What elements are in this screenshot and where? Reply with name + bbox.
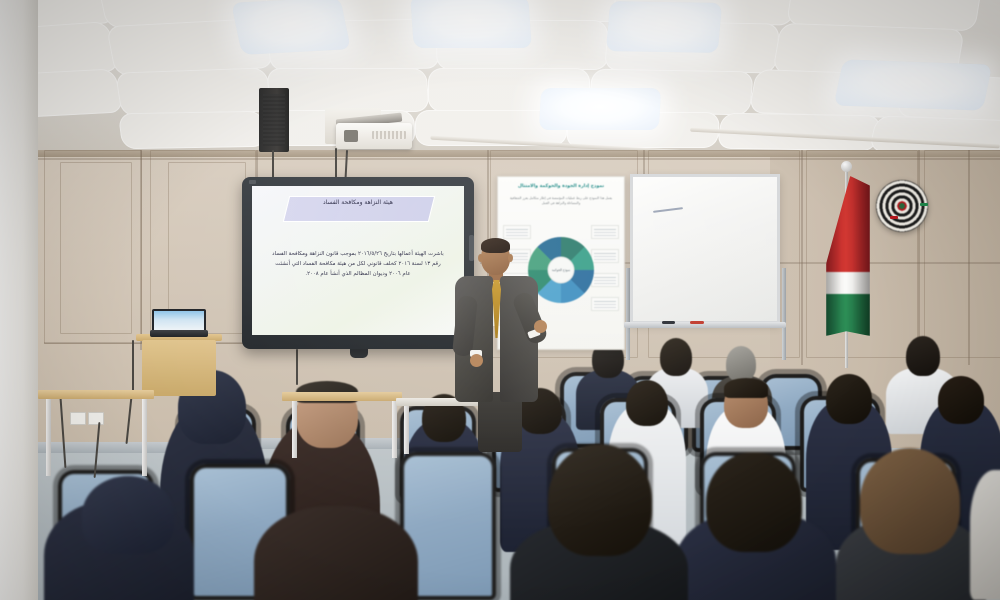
slide-body-text: باشرت الهيئة أعمالها بتاريخ ٢٠١٦/٥/٢٦ بم… bbox=[271, 249, 445, 280]
ceiling-light-panel bbox=[410, 0, 532, 48]
dartboard bbox=[876, 180, 928, 232]
projection-display[interactable]: هيئة النزاهة ومكافحة الفساد باشرت الهيئة… bbox=[242, 177, 474, 349]
audience-head bbox=[660, 338, 692, 376]
lecture-room-photo: هيئة النزاهة ومكافحة الفساد باشرت الهيئة… bbox=[0, 0, 1000, 600]
ceiling-light-panel bbox=[834, 59, 993, 110]
presenter-hand-left bbox=[470, 354, 483, 367]
marker-black-icon[interactable] bbox=[662, 321, 675, 324]
poster-subtitle: يعمل هذا النموذج على ربط عمليات المؤسسة … bbox=[508, 196, 614, 207]
whiteboard[interactable] bbox=[630, 174, 780, 324]
wall-socket bbox=[70, 412, 86, 425]
laptop-shelf-panel bbox=[142, 340, 216, 396]
audience-head bbox=[860, 448, 960, 554]
laptop-keyboard[interactable] bbox=[150, 330, 208, 337]
laptop-screen bbox=[154, 311, 204, 330]
wall-socket bbox=[88, 412, 104, 425]
ceiling-light-panel bbox=[606, 1, 722, 53]
audience-body bbox=[254, 506, 418, 600]
side-table bbox=[38, 390, 154, 399]
projector-vent bbox=[372, 131, 406, 139]
wall-panel bbox=[60, 162, 132, 334]
audience-head bbox=[626, 380, 668, 426]
presenter-hair bbox=[481, 238, 510, 253]
dart-red-icon bbox=[890, 216, 898, 219]
display-stand bbox=[350, 349, 368, 358]
marker-red-icon[interactable] bbox=[690, 321, 704, 324]
presenter-laptop[interactable] bbox=[152, 309, 206, 332]
wall-panel bbox=[924, 150, 1000, 358]
audience-head bbox=[906, 336, 940, 376]
donut-center-label: نموذج الحوكمة bbox=[550, 268, 572, 272]
flag-finial bbox=[841, 161, 852, 172]
slide-title: هيئة النزاهة ومكافحة الفساد bbox=[286, 199, 430, 206]
dart-green-icon bbox=[920, 203, 928, 206]
poster-title: نموذج إدارة الجودة والحوكمة والامتثال bbox=[506, 184, 617, 189]
audience-head bbox=[938, 376, 984, 424]
audience-head-hijab bbox=[82, 476, 174, 554]
audience-head bbox=[706, 452, 802, 552]
whiteboard-marking bbox=[653, 207, 683, 213]
audience-head bbox=[548, 444, 652, 556]
slide-surface: هيئة النزاهة ومكافحة الفساد باشرت الهيئة… bbox=[252, 186, 464, 335]
projector-lens-icon bbox=[344, 130, 358, 142]
ceiling-light-panel bbox=[539, 88, 661, 130]
support-column bbox=[0, 0, 38, 600]
front-desk bbox=[282, 392, 402, 401]
ir-sensor-icon bbox=[469, 235, 474, 261]
presenter-hand-right bbox=[534, 320, 547, 333]
audience-hair bbox=[724, 378, 768, 398]
whiteboard-marker-tray bbox=[624, 322, 786, 328]
wall-speaker bbox=[259, 88, 289, 152]
ceiling-light-panel bbox=[231, 0, 351, 55]
power-led-icon bbox=[249, 180, 256, 184]
audience-head bbox=[726, 346, 756, 382]
audience-head bbox=[826, 374, 872, 424]
audience-body bbox=[970, 470, 1000, 600]
